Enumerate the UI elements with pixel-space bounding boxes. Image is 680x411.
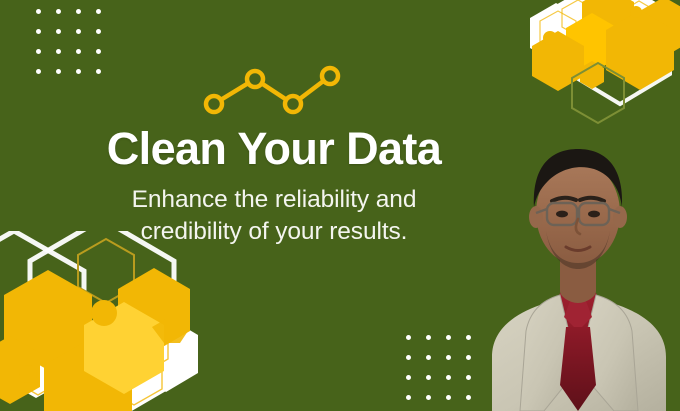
grid-dot [406,335,411,340]
grid-dot [426,375,431,380]
subtitle-line-1: Enhance the reliability and [0,184,548,217]
grid-dot [76,49,81,54]
ear-right [613,206,627,228]
grid-dot [96,49,101,54]
grid-dot [36,69,41,74]
grid-dot [36,9,41,14]
eye-left [556,211,568,218]
chart-node-3 [285,96,301,112]
hex-dot-bl-2 [19,365,37,383]
grid-dot [406,395,411,400]
grid-dot [426,335,431,340]
chart-node-2 [247,71,263,87]
grid-dot [76,29,81,34]
chart-node-1 [206,96,222,112]
grid-dot [466,375,471,380]
banner-root: Clean Your Data Enhance the reliability … [0,0,680,411]
hex-dot-1 [543,31,557,45]
grid-dot [56,69,61,74]
grid-dot [446,335,451,340]
grid-dot [76,69,81,74]
grid-dot [56,29,61,34]
hex-dot-2 [630,6,642,18]
grid-dot [426,355,431,360]
presenter-portrait [474,135,680,411]
chart-line-path [214,76,330,104]
chart-node-4 [322,68,338,84]
grid-dot [76,9,81,14]
grid-dot [56,49,61,54]
hexagon-cluster-bottom-left [0,231,202,411]
grid-dot [36,29,41,34]
grid-dot [446,375,451,380]
eye-right [588,211,600,218]
grid-dot [96,29,101,34]
hexagon-cluster-top-right [510,0,680,138]
line-chart-icon [196,56,348,118]
dot-grid-top-left [36,9,116,89]
grid-dot [406,355,411,360]
grid-dot [96,69,101,74]
grid-dot [446,395,451,400]
hex-dot-bl-1 [91,300,117,326]
page-title: Clean Your Data [0,126,548,173]
grid-dot [446,355,451,360]
grid-dot [36,49,41,54]
grid-dot [406,375,411,380]
ear-left [529,206,543,228]
page-subtitle: Enhance the reliability and credibility … [0,184,548,249]
grid-dot [96,9,101,14]
grid-dot [56,9,61,14]
subtitle-line-2: credibility of your results. [0,216,548,249]
grid-dot [466,335,471,340]
grid-dot [426,395,431,400]
grid-dot [466,395,471,400]
headline-block: Clean Your Data Enhance the reliability … [0,126,548,249]
grid-dot [466,355,471,360]
